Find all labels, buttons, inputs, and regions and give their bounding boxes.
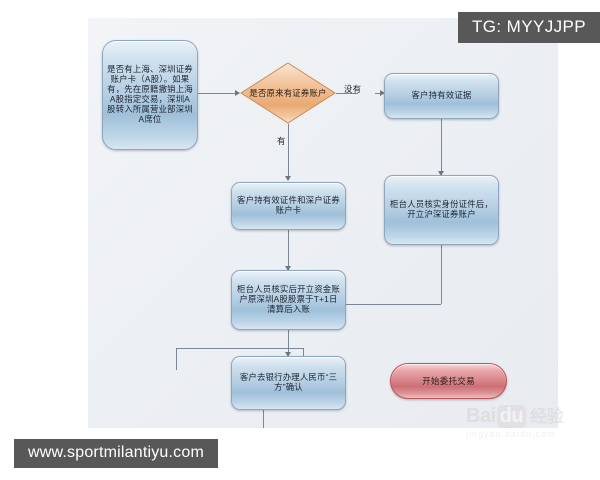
node-n7-label: 客户去银行办理人民币“三方”确认 xyxy=(236,373,341,393)
site-watermark-label: www.sportmilantiyu.com xyxy=(14,439,218,468)
node-n8-label: 开始委托交易 xyxy=(422,376,475,386)
watermark-bai: Bai xyxy=(466,405,496,428)
node-n5-customer-valid-id-and-card[interactable]: 客户持有效证件和深户证券账户卡 xyxy=(231,182,346,230)
tg-watermark-label: TG: MYYJJPP xyxy=(458,12,600,43)
node-n4-open-securities-account[interactable]: 柜台人员核实身份证件后，开立沪深证券账户 xyxy=(384,175,499,245)
arrowhead-n2-to-n5 xyxy=(285,176,291,181)
screenshot-page: 是否有上海、深圳证券账户卡（A股）。如果有，先在原籍撤销上海A股指定交易，深圳A… xyxy=(0,0,600,480)
node-n6-label: 柜台人员核实后开立资金账户原深圳A股股票于T+1日清算后入账 xyxy=(236,285,341,315)
connector-n1-to-n2 xyxy=(198,93,236,94)
watermark-domain: jingyan.baidu.com xyxy=(466,429,600,439)
baidu-jingyan-watermark: Bai du 经验 jingyan.baidu.com xyxy=(466,402,600,444)
watermark-du: du xyxy=(497,405,526,428)
node-n3-customer-valid-proof[interactable]: 客户持有效证据 xyxy=(384,73,499,119)
edge-label-yes: 有 xyxy=(277,135,286,147)
node-n7-bank-tripartite-confirm[interactable]: 客户去银行办理人民币“三方”确认 xyxy=(231,356,346,410)
node-n5-label: 客户持有效证件和深户证券账户卡 xyxy=(236,196,341,216)
connector-to-n8-left-riser xyxy=(176,348,177,370)
connector-n4-to-n6 xyxy=(341,304,441,305)
node-n1-label: 是否有上海、深圳证券账户卡（A股）。如果有，先在原籍撤销上海A股指定交易，深圳A… xyxy=(107,65,193,124)
connector-to-n8-horizontal xyxy=(176,348,303,349)
node-n1-check-existing-cards[interactable]: 是否有上海、深圳证券账户卡（A股）。如果有，先在原籍撤销上海A股指定交易，深圳A… xyxy=(102,40,198,150)
node-n8-start-trading[interactable]: 开始委托交易 xyxy=(390,363,507,399)
paw-prints-icon xyxy=(504,394,531,401)
node-n2-decision-has-account[interactable]: 是否原来有证券账户 xyxy=(240,62,336,124)
node-n6-open-fund-account[interactable]: 柜台人员核实后开立资金账户原深圳A股股票于T+1日清算后入账 xyxy=(231,270,346,330)
watermark-brand: Bai du 经验 xyxy=(466,402,600,428)
connector-n7-down xyxy=(263,410,264,428)
connector-n5-to-n6 xyxy=(288,230,289,270)
connector-n3-to-n4 xyxy=(441,119,442,175)
flowchart-canvas: 是否有上海、深圳证券账户卡（A股）。如果有，先在原籍撤销上海A股指定交易，深圳A… xyxy=(88,18,558,428)
node-n2-label: 是否原来有证券账户 xyxy=(240,62,336,124)
watermark-jingyan: 经验 xyxy=(530,402,563,427)
node-n3-label: 客户持有效证据 xyxy=(411,91,471,101)
edge-label-no: 没有 xyxy=(344,83,361,95)
connector-n2-to-n5 xyxy=(288,124,289,180)
node-n4-label: 柜台人员核实身份证件后，开立沪深证券账户 xyxy=(389,200,494,220)
connector-n4-down xyxy=(441,245,442,304)
